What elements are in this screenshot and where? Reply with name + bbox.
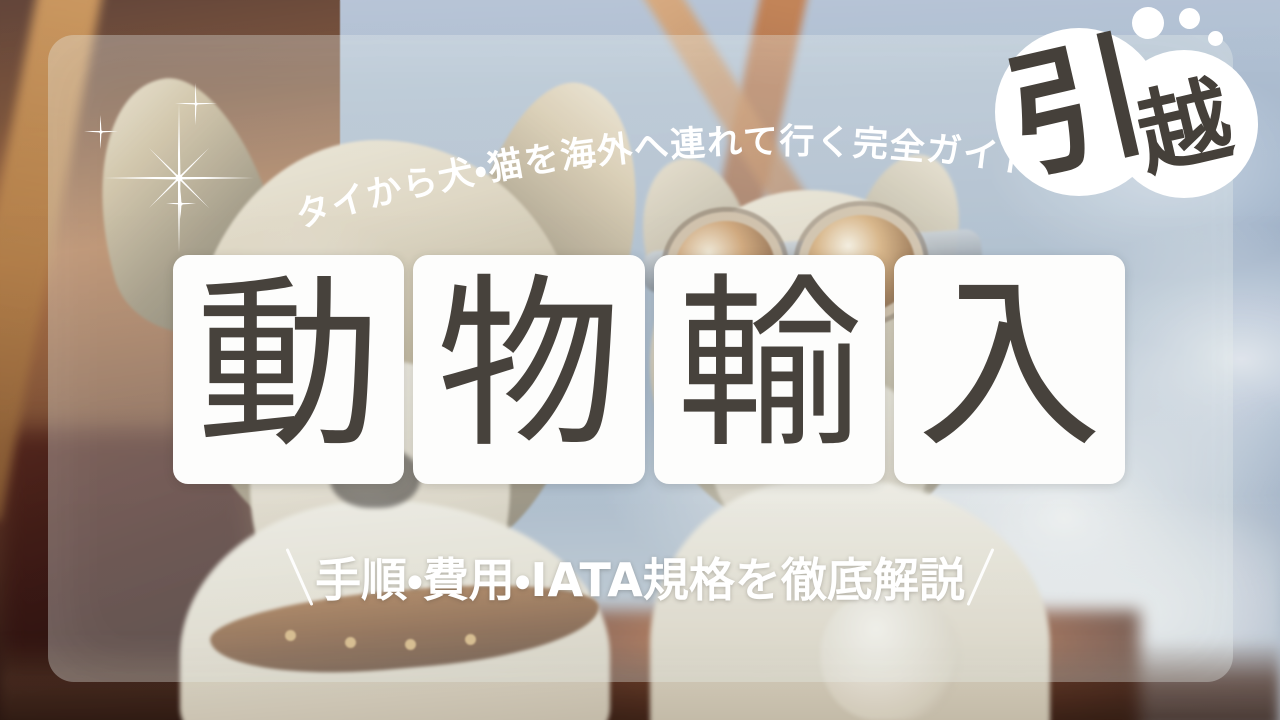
- sparkle-star-small-c: [166, 189, 196, 219]
- moving-badge[interactable]: 引 越: [975, 0, 1280, 215]
- tagline-text: 手順・費用・IATA規格を徹底解説: [315, 544, 965, 610]
- badge-char-koshi: 越: [1106, 68, 1264, 195]
- tagline-slash-left-icon: [286, 548, 314, 606]
- sparkle-star-small-a: [84, 115, 118, 149]
- title-card-yu[interactable]: 輸: [654, 255, 885, 484]
- title-card-char: 物: [436, 280, 621, 450]
- title-card-char: 輸: [677, 280, 862, 450]
- title-card-dou[interactable]: 動: [173, 255, 404, 484]
- badge-dot-small: [1208, 31, 1223, 46]
- title-card-butsu[interactable]: 物: [413, 255, 644, 484]
- title-card-row: 動 物 輸 入: [173, 255, 1125, 484]
- sparkle-star-small-b: [175, 83, 217, 125]
- sparkle-star-cluster: [60, 95, 250, 245]
- title-card-char: 入: [917, 280, 1102, 450]
- badge-dot-large: [1132, 7, 1164, 39]
- sparkle-star-large: [104, 103, 254, 253]
- title-card-nyuu[interactable]: 入: [894, 255, 1125, 484]
- badge-dot-medium: [1179, 8, 1200, 29]
- tagline: 手順・費用・IATA規格を徹底解説: [0, 543, 1280, 611]
- title-card-char: 動: [196, 280, 381, 450]
- tagline-slash-right-icon: [966, 548, 994, 606]
- hero-banner: タイから犬・猫を海外へ連れて行く完全ガイド 動 物 輸 入 手順・費用・IATA…: [0, 0, 1280, 720]
